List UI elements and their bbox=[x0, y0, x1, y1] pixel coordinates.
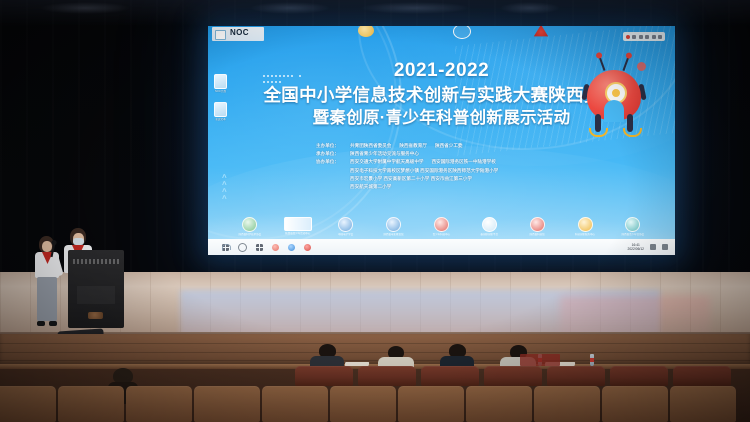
ceiling-light bbox=[360, 2, 470, 14]
credit-row: 承办单位：陕西省青少年活动交流与服务中心 bbox=[316, 150, 616, 158]
window-tab-label: NOC bbox=[230, 28, 249, 37]
theater-seat[interactable] bbox=[466, 386, 532, 422]
theater-seat[interactable] bbox=[295, 366, 353, 386]
pointer-icon[interactable] bbox=[645, 35, 649, 39]
credit-row: 西安电子科技大学南校区梦想小镇 西安国际港务区陕西师范大学陆港小学 bbox=[316, 167, 616, 175]
credit-entry: 陕西省青少年活动交流与服务中心 bbox=[350, 151, 419, 156]
sponsor-logo-7: 陕西省科技馆 bbox=[522, 217, 552, 236]
search-icon[interactable] bbox=[238, 243, 247, 252]
sponsor-logo-1: 陕西省科学技术协会 bbox=[235, 217, 265, 236]
theater-seat[interactable] bbox=[330, 386, 396, 422]
sponsor-logo-3: 中国电子学会 bbox=[331, 217, 361, 236]
theater-seat[interactable] bbox=[534, 386, 600, 422]
credit-entry: 陕西省教育厅 bbox=[399, 143, 427, 148]
water-bottle bbox=[590, 354, 594, 366]
sponsor-mark-icon bbox=[434, 217, 449, 232]
windows-taskbar[interactable]: 16:41 2022/06/12 bbox=[208, 239, 675, 255]
auditorium-seating-area bbox=[0, 334, 750, 422]
task-view-icon[interactable] bbox=[256, 244, 263, 251]
seat-back-accent bbox=[520, 354, 560, 366]
presenter-shoe bbox=[37, 321, 45, 326]
theater-seat[interactable] bbox=[602, 386, 668, 422]
emblem-icon bbox=[453, 26, 471, 39]
emblem-icon bbox=[358, 26, 374, 37]
presenter-face-mask bbox=[73, 238, 84, 245]
network-icon[interactable] bbox=[650, 244, 656, 250]
theater-seat[interactable] bbox=[610, 366, 668, 386]
emblem-icon bbox=[533, 26, 549, 37]
credit-row: 主办单位：共青团陕西省委员会陕西省教育厅陕西省少工委 bbox=[316, 142, 616, 150]
credit-label: 承办单位： bbox=[316, 150, 350, 158]
sponsor-logo-2: 陕西省青少年活动中心 bbox=[283, 217, 313, 235]
sponsor-mark-icon bbox=[578, 217, 593, 232]
credit-entry: 西安国际港务区铁一中陆港学校 bbox=[432, 159, 496, 164]
slide-chevron-accents: ^^^^ bbox=[222, 174, 227, 202]
volume-icon[interactable] bbox=[662, 244, 668, 250]
credit-entry: 共青团陕西省委员会 bbox=[350, 143, 391, 148]
taskbar-clock[interactable]: 16:41 2022/06/12 bbox=[627, 243, 644, 251]
theater-seat[interactable] bbox=[670, 386, 736, 422]
sponsor-mark-icon bbox=[386, 217, 401, 232]
theater-seat[interactable] bbox=[398, 386, 464, 422]
media-icon[interactable] bbox=[304, 244, 311, 251]
mascot-antenna-right bbox=[622, 56, 629, 71]
sponsor-logo-6: 秦创原创新平台 bbox=[474, 217, 504, 236]
pen-icon[interactable] bbox=[632, 35, 636, 39]
sponsor-logo-9: 陕西省青少年宫协会 bbox=[618, 217, 648, 236]
more-icon[interactable] bbox=[658, 35, 662, 39]
sponsor-mark-icon bbox=[242, 217, 257, 232]
auditorium-scene: NOC NOC大赛 新建文本 ^^^^ 2021-2022 全国中小学信息技术创… bbox=[0, 0, 750, 422]
mascot-leg-gap bbox=[604, 100, 624, 122]
desktop-window-tab[interactable]: NOC bbox=[212, 27, 264, 41]
credit-entry: 陕西省少工委 bbox=[435, 143, 463, 148]
sponsor-mark-icon bbox=[482, 217, 497, 232]
presenter-face bbox=[42, 241, 52, 252]
floating-toolbar[interactable] bbox=[623, 32, 666, 41]
theater-seat[interactable] bbox=[194, 386, 260, 422]
weather-icon[interactable] bbox=[222, 244, 231, 250]
speaking-podium bbox=[68, 250, 124, 328]
projection-screen: NOC NOC大赛 新建文本 ^^^^ 2021-2022 全国中小学信息技术创… bbox=[208, 26, 675, 255]
credit-row: 西安航天城第二小学 bbox=[316, 183, 616, 191]
podium-name-plate bbox=[73, 259, 119, 264]
sponsor-mark-icon bbox=[284, 217, 312, 231]
theater-seat[interactable] bbox=[358, 366, 416, 386]
theater-seat[interactable] bbox=[58, 386, 124, 422]
eraser-icon[interactable] bbox=[639, 35, 643, 39]
slide-credits-block: 主办单位：共青团陕西省委员会陕西省教育厅陕西省少工委 承办单位：陕西省青少年活动… bbox=[316, 142, 616, 191]
mascot-accent-dot bbox=[637, 62, 646, 71]
credit-label: 协办单位： bbox=[316, 158, 350, 166]
theater-seat[interactable] bbox=[484, 366, 542, 386]
record-icon[interactable] bbox=[626, 35, 630, 39]
presenter-shoe bbox=[49, 321, 57, 326]
sponsor-logo-8: 科技创新服务中心 bbox=[570, 217, 600, 236]
window-icon bbox=[215, 30, 226, 40]
theater-seat[interactable] bbox=[673, 366, 731, 386]
sponsor-mark-icon bbox=[530, 217, 545, 232]
theater-seat[interactable] bbox=[547, 366, 605, 386]
wall-paneling bbox=[0, 334, 750, 364]
sponsor-mark-icon bbox=[338, 217, 353, 232]
sponsor-logo-strip: 陕西省科学技术协会 陕西省青少年活动中心 中国电子学会 陕西省电化教育馆 青少年… bbox=[208, 213, 675, 239]
credit-row: 西安市宏景小学 西安高新区第二十小学 西安市曲江第三小学 bbox=[316, 175, 616, 183]
browser-icon[interactable] bbox=[272, 244, 279, 251]
theater-seat[interactable] bbox=[0, 386, 56, 422]
presenter-pants bbox=[37, 277, 57, 321]
sponsor-logo-5: 青少年科技中心 bbox=[426, 217, 456, 236]
credit-row: 协办单位：西安交通大学附属中学航天高级中学西安国际港务区铁一中陆港学校 bbox=[316, 158, 616, 166]
ceiling-light bbox=[40, 2, 130, 14]
presenter-student-left bbox=[32, 236, 62, 328]
theater-seat[interactable] bbox=[262, 386, 328, 422]
edge-icon[interactable] bbox=[288, 244, 295, 251]
shape-icon[interactable] bbox=[652, 35, 656, 39]
credit-label: 主办单位： bbox=[316, 142, 350, 150]
theater-seat[interactable] bbox=[126, 386, 192, 422]
podium-panel bbox=[77, 286, 115, 304]
sponsor-logo-4: 陕西省电化教育馆 bbox=[379, 217, 409, 236]
theater-seat[interactable] bbox=[421, 366, 479, 386]
sponsor-mark-icon bbox=[625, 217, 640, 232]
credit-entry: 西安交通大学附属中学航天高级中学 bbox=[350, 159, 424, 164]
robot-mascot bbox=[577, 48, 651, 134]
ceiling-light bbox=[500, 2, 560, 14]
slide-top-logos bbox=[358, 26, 658, 40]
ceiling-light bbox=[250, 2, 330, 14]
podium-emblem bbox=[88, 312, 103, 319]
mascot-antenna-left bbox=[598, 56, 605, 71]
